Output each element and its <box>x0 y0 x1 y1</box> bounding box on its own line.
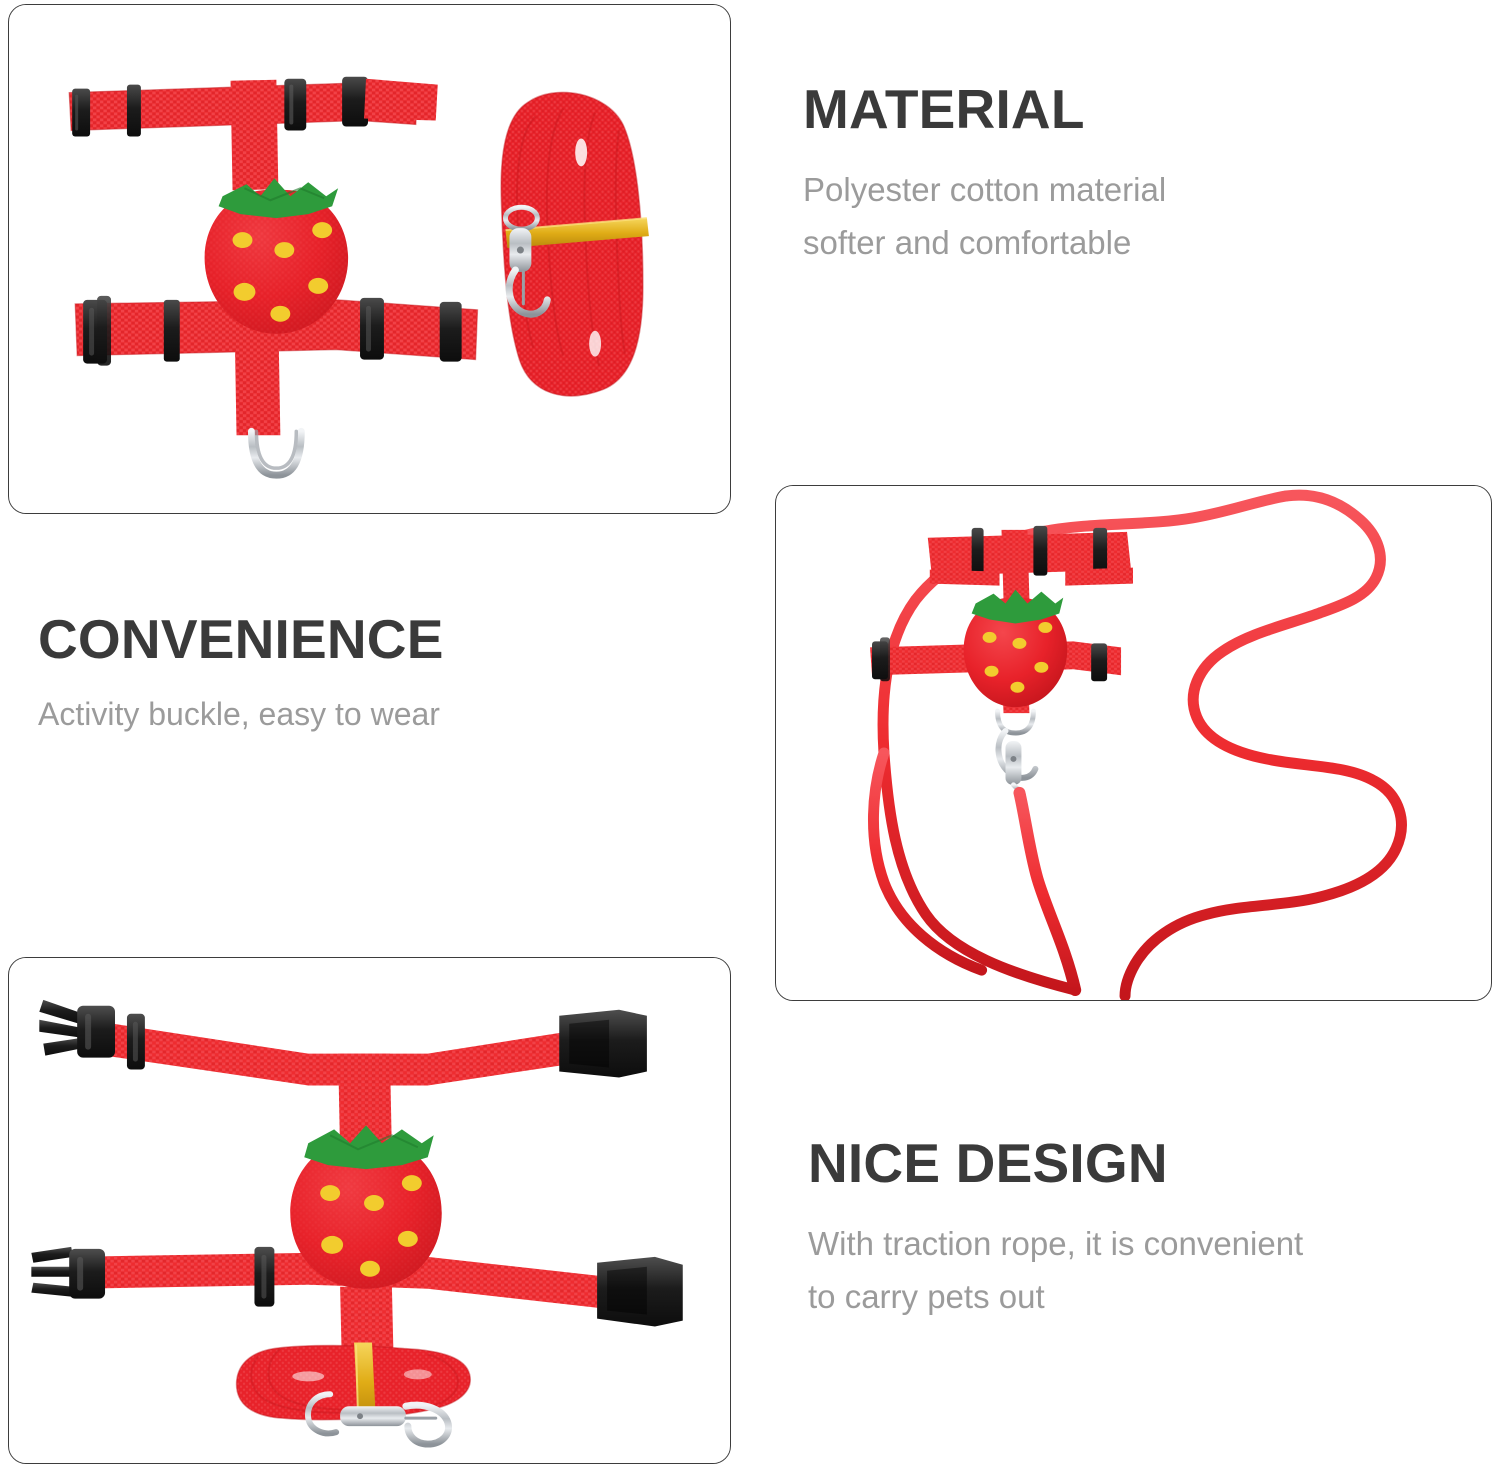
material-body-line-1: Polyester cotton material <box>803 163 1443 216</box>
nice-design-title: NICE DESIGN <box>808 1136 1448 1191</box>
nice-design-body-line-2: to carry pets out <box>808 1270 1448 1323</box>
buckle-male-lower-left <box>31 1247 105 1299</box>
text-block-material: MATERIAL Polyester cotton material softe… <box>803 82 1443 270</box>
chest-strap-buckle-left <box>83 296 111 366</box>
flat-harness-with-open-buckles-illustration <box>9 958 730 1463</box>
material-body-line-2: softer and comfortable <box>803 216 1443 269</box>
product-photo-panel-harness-flat-with-buckles <box>8 957 731 1464</box>
harness-with-traction-rope-illustration <box>776 486 1491 1000</box>
material-body: Polyester cotton material softer and com… <box>803 163 1443 270</box>
product-photo-panel-harness-and-leash <box>8 4 731 514</box>
product-photo-panel-harness-with-rope <box>775 485 1492 1001</box>
lower-strap-adjuster <box>254 1247 274 1307</box>
neck-strap-adjuster-left <box>72 89 90 137</box>
center-chest-strap-upper <box>231 80 279 191</box>
center-chest-strap-lower <box>235 320 281 436</box>
infographic-page: MATERIAL Polyester cotton material softe… <box>0 0 1500 1471</box>
text-block-nice-design: NICE DESIGN With traction rope, it is co… <box>808 1136 1448 1324</box>
buckle-female-upper-right <box>559 1010 647 1078</box>
upper-strap-adjuster <box>127 1014 145 1070</box>
strawberry-patch <box>205 178 348 333</box>
buckle-female-lower-right <box>597 1257 683 1327</box>
text-block-convenience: CONVENIENCE Activity buckle, easy to wea… <box>38 612 698 741</box>
neck-strap-end-right <box>364 79 438 121</box>
harness-with-coiled-leash-illustration <box>9 5 730 513</box>
material-title: MATERIAL <box>803 82 1443 137</box>
strawberry-patch <box>290 1125 441 1288</box>
strawberry-patch <box>964 590 1068 708</box>
nice-design-body: With traction rope, it is convenient to … <box>808 1217 1448 1324</box>
nice-design-body-line-1: With traction rope, it is convenient <box>808 1217 1448 1270</box>
convenience-body-line-1: Activity buckle, easy to wear <box>38 689 698 741</box>
convenience-body: Activity buckle, easy to wear <box>38 689 698 741</box>
neck-strap-slider <box>127 85 141 137</box>
chest-strap-adjuster-mid <box>164 300 180 362</box>
convenience-title: CONVENIENCE <box>38 612 698 667</box>
coiled-leash <box>501 92 649 396</box>
